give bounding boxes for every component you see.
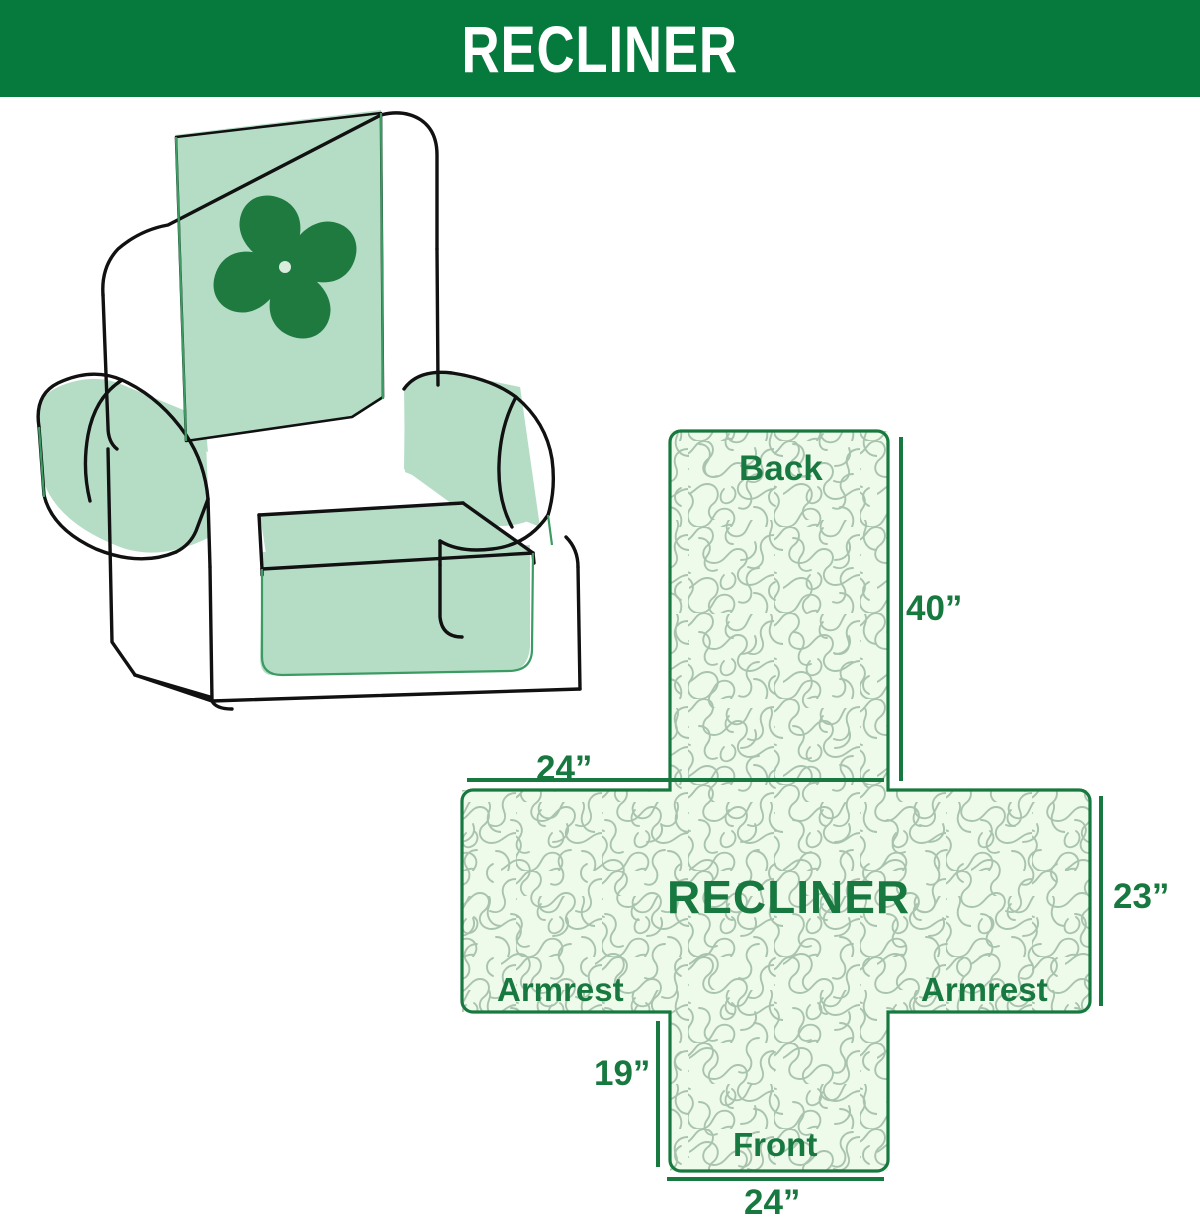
diagram-stage: Back RECLINER Armrest Armrest Front 40” … (0, 97, 1200, 1200)
section-label-armrest-left: Armrest (497, 973, 624, 1006)
flat-layout-cross-diagram (0, 97, 1200, 1200)
dimension-label-front-width: 24” (744, 1185, 800, 1220)
section-label-armrest-right: Armrest (921, 973, 1048, 1006)
page-title: RECLINER (462, 16, 738, 82)
diagram-center-label: RECLINER (667, 874, 910, 920)
dimension-label-back-height: 40” (906, 591, 962, 626)
section-label-back: Back (739, 451, 823, 486)
quilting-stipple-fill (440, 417, 1120, 1197)
section-label-front: Front (733, 1128, 817, 1161)
header-banner: RECLINER (0, 0, 1200, 97)
dimension-label-center-height: 23” (1113, 879, 1169, 914)
dimension-label-armrest-width: 24” (536, 751, 592, 786)
dimension-label-front-height: 19” (594, 1056, 650, 1091)
